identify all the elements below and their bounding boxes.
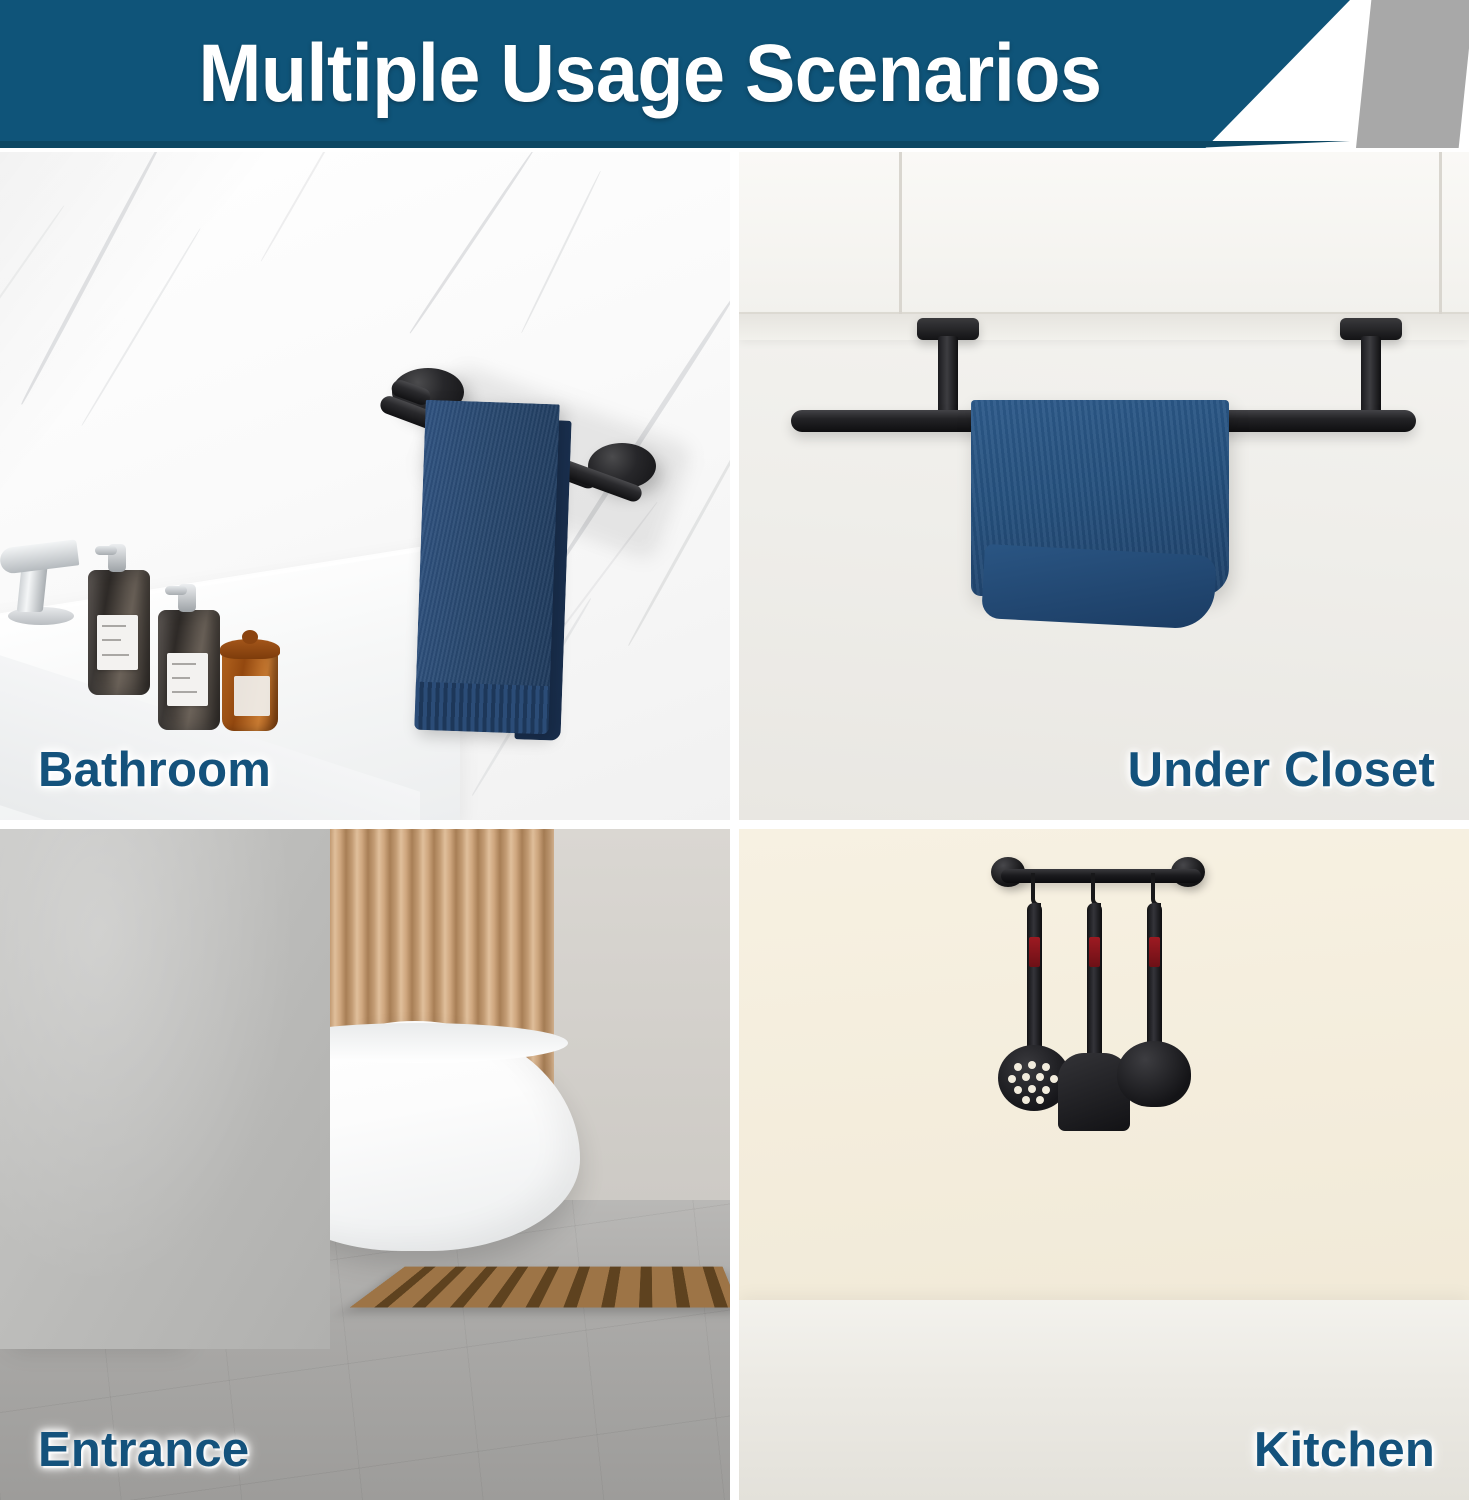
utensil-brand-label bbox=[1149, 937, 1160, 967]
banner-accent-stripe-icon bbox=[1356, 0, 1469, 148]
bottle-pump-icon bbox=[178, 584, 197, 612]
ladle-handle bbox=[1147, 903, 1162, 1053]
s-hook-icon bbox=[1091, 873, 1101, 907]
scenario-panel-kitchen[interactable]: Kitchen bbox=[739, 829, 1469, 1500]
shampoo-bottle bbox=[88, 570, 150, 695]
scenario-panel-entrance[interactable]: Entrance bbox=[0, 829, 730, 1500]
towel-hem bbox=[414, 682, 550, 735]
panel-label-bathroom: Bathroom bbox=[38, 742, 271, 798]
mount-post bbox=[1361, 336, 1381, 418]
scenario-panel-bathroom[interactable]: Bathroom bbox=[0, 152, 730, 820]
page-title: Multiple Usage Scenarios bbox=[52, 0, 1248, 148]
bottle-label bbox=[97, 615, 138, 670]
cabinet-doors bbox=[739, 152, 1469, 314]
amber-jar-label bbox=[234, 676, 270, 716]
s-hook-icon bbox=[1151, 873, 1161, 907]
header-banner: Multiple Usage Scenarios bbox=[0, 0, 1469, 150]
marble-vein bbox=[409, 152, 535, 334]
scenario-panel-under-closet[interactable]: Under Closet bbox=[739, 152, 1469, 820]
marble-vein bbox=[260, 152, 342, 262]
bottle-label bbox=[167, 653, 208, 706]
marble-vein bbox=[20, 152, 164, 405]
spatula-handle bbox=[1087, 903, 1102, 1061]
cabinet-door-seam bbox=[1439, 152, 1442, 314]
concrete-wall-face bbox=[0, 829, 330, 1349]
wooden-bath-mat bbox=[350, 1267, 730, 1308]
mount-post bbox=[938, 336, 958, 418]
bottle-pump-icon bbox=[108, 544, 127, 572]
utensil-brand-label bbox=[1029, 937, 1040, 967]
skimmer-handle bbox=[1027, 903, 1042, 1053]
panel-label-kitchen: Kitchen bbox=[1254, 1422, 1435, 1478]
s-hook-icon bbox=[1031, 873, 1041, 907]
blue-towel-flap bbox=[981, 544, 1217, 630]
marble-vein bbox=[0, 205, 65, 329]
scenario-grid: Bathroom Under Closet bbox=[0, 152, 1469, 1500]
utensil-brand-label bbox=[1089, 937, 1100, 967]
panel-label-under-closet: Under Closet bbox=[1128, 742, 1435, 798]
marble-vein bbox=[521, 171, 602, 334]
panel-label-entrance: Entrance bbox=[38, 1422, 249, 1478]
conditioner-bottle bbox=[158, 610, 220, 730]
cabinet-door-seam bbox=[899, 152, 902, 314]
amber-jar-knob bbox=[242, 630, 258, 644]
blue-towel bbox=[414, 400, 559, 734]
side-wall bbox=[554, 829, 730, 1259]
ladle bbox=[1117, 1041, 1191, 1107]
